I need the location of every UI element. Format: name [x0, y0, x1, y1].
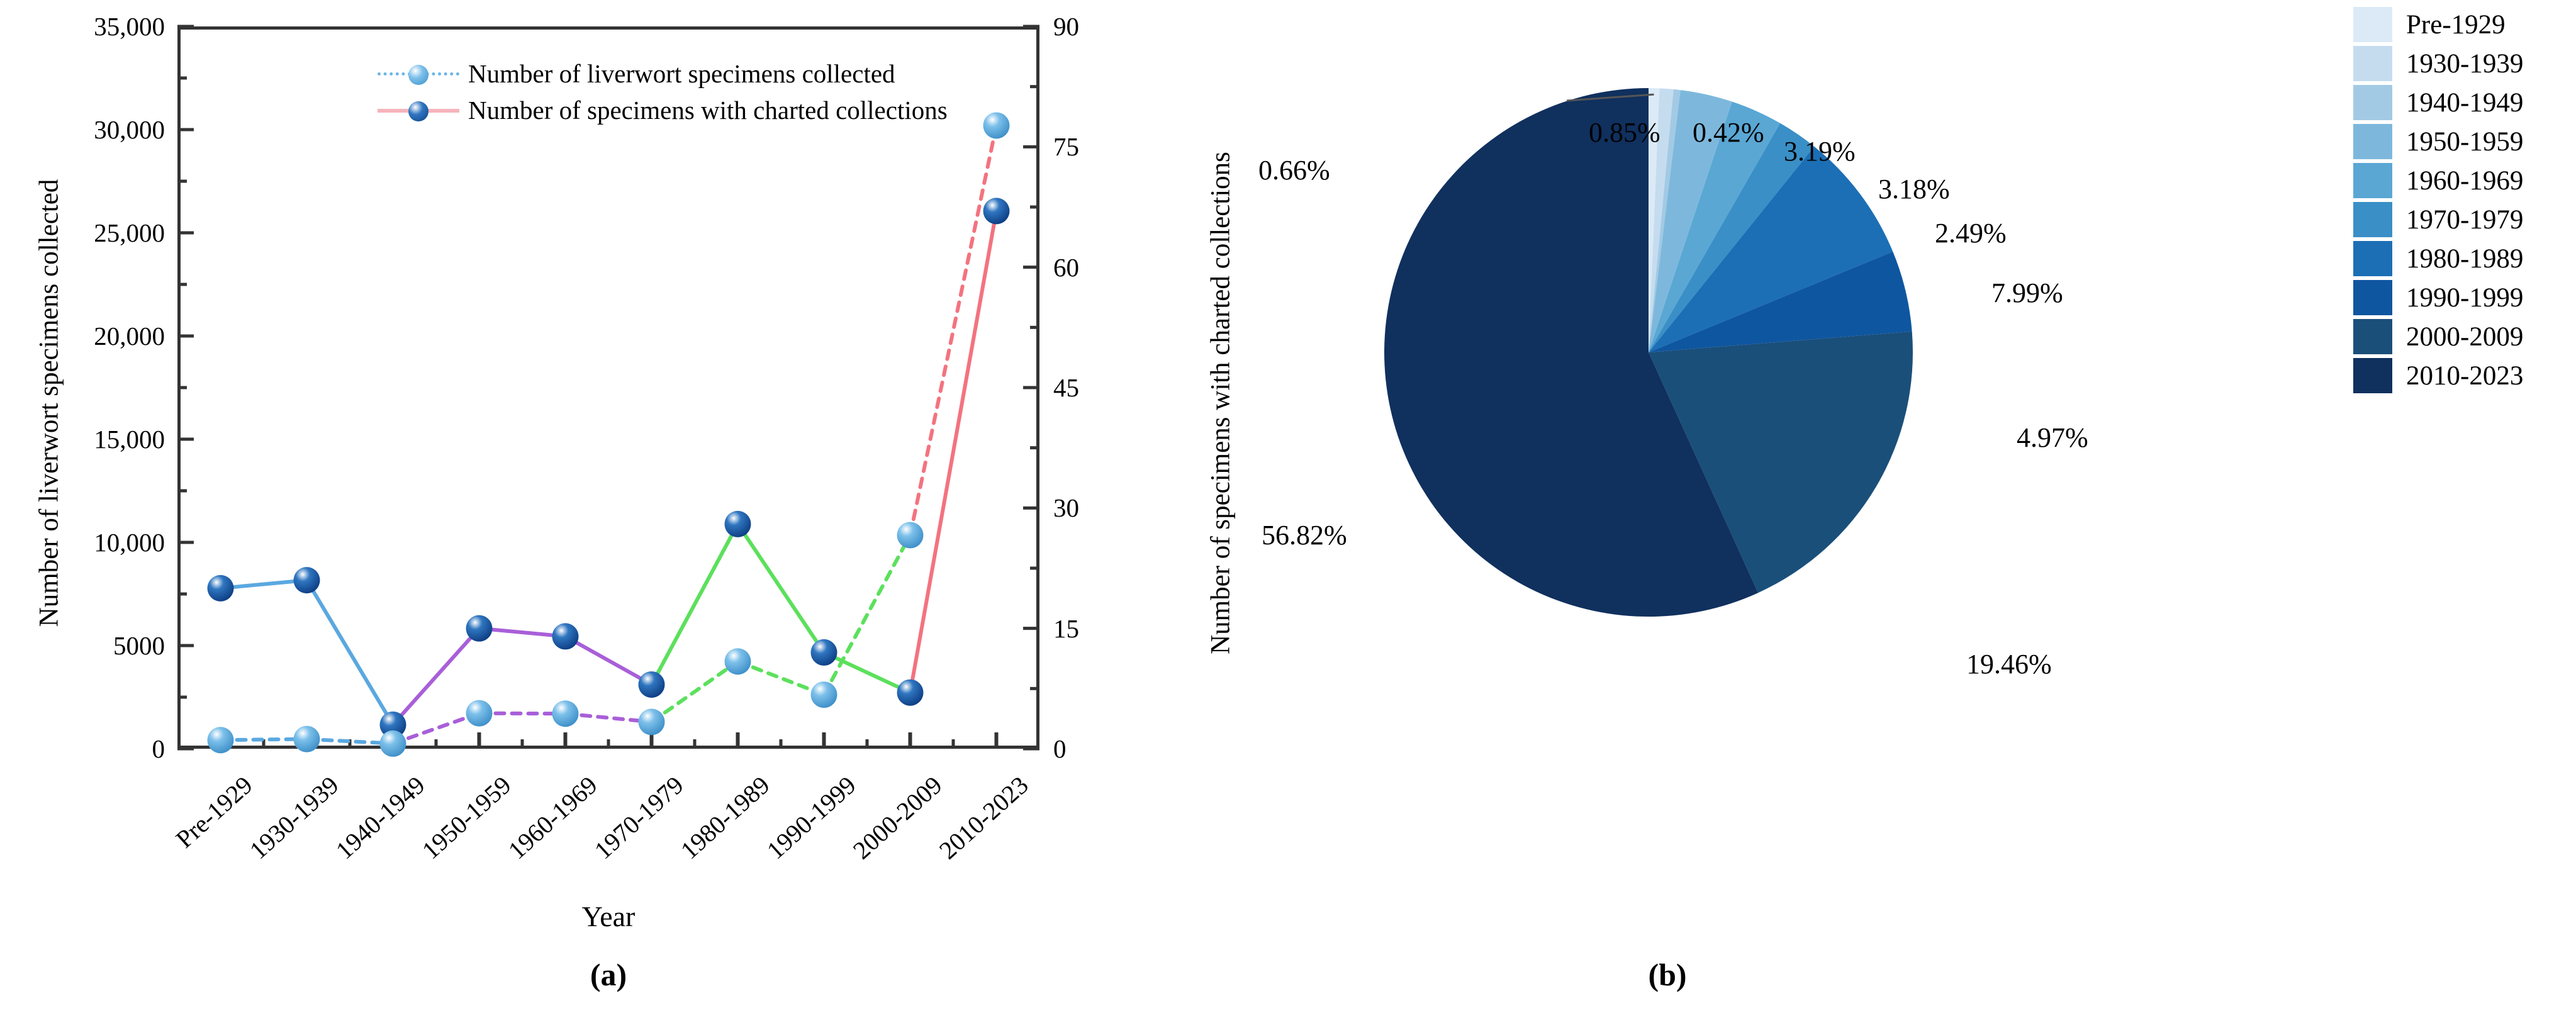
pie-percentage-label: 3.19%: [1784, 135, 1856, 167]
y-axis-right-tick-label: 60: [1053, 252, 1079, 283]
legend-color-swatch: [2353, 85, 2392, 120]
panel-a-caption: (a): [177, 956, 1039, 993]
legend-item: 1950-1959: [2353, 122, 2523, 161]
pie-percentage-label: 0.85%: [1589, 116, 1660, 148]
legend-color-swatch: [2353, 358, 2392, 393]
pie-percentage-label: 2.49%: [1935, 217, 2007, 249]
pie-percentage-label: 56.82%: [1262, 519, 1347, 551]
y-axis-left-tick-label: 20,000: [94, 321, 165, 351]
legend-label: 1940-1949: [2392, 87, 2523, 118]
legend-label-charted: Number of specimens with charted collect…: [459, 95, 948, 125]
legend-color-swatch: [2353, 241, 2392, 276]
legend-color-swatch: [2353, 202, 2392, 237]
line-chart-legend: Number of liverwort specimens collected …: [378, 55, 948, 128]
legend-label: 1950-1959: [2392, 126, 2523, 157]
y-axis-right-tick-label: 30: [1053, 493, 1079, 523]
y-axis-left-tick-label: 30,000: [94, 115, 165, 145]
legend-label: 2010-2023: [2392, 361, 2523, 391]
y-axis-left-tick-label: 5000: [113, 630, 165, 661]
pie-percentage-label: 7.99%: [1991, 277, 2063, 309]
legend-label: 1990-1999: [2392, 283, 2523, 313]
legend-label: 2000-2009: [2392, 322, 2523, 352]
legend-label: Pre-1929: [2392, 9, 2506, 40]
y-axis-left-tick-label: 25,000: [94, 218, 165, 248]
legend-color-swatch: [2353, 319, 2392, 354]
legend-item: 1960-1969: [2353, 161, 2523, 200]
legend-item: 1990-1999: [2353, 278, 2523, 317]
legend-color-swatch: [2353, 163, 2392, 198]
legend-marker-dotted-icon: [378, 63, 459, 84]
y-axis-right-tick-label: 75: [1053, 132, 1079, 162]
legend-item: 1970-1979: [2353, 200, 2523, 239]
y-axis-right-tick-label: 0: [1053, 734, 1067, 764]
pie-percentage-label: 3.18%: [1878, 173, 1950, 205]
y-axis-left-title: Number of liverwort specimens collected: [34, 120, 65, 686]
legend-color-swatch: [2353, 46, 2392, 81]
legend-label: 1970-1979: [2392, 204, 2523, 235]
pie-percentage-label: 0.66%: [1258, 154, 1330, 186]
pie-percentage-label: 4.97%: [2017, 422, 2088, 454]
y-axis-left-tick-label: 0: [152, 734, 165, 764]
x-axis-title: Year: [177, 900, 1039, 933]
legend-color-swatch: [2353, 124, 2392, 159]
legend-item: 1930-1939: [2353, 44, 2523, 83]
panel-b-caption: (b): [1196, 956, 2139, 993]
pie-percentage-label: 0.42%: [1693, 116, 1764, 148]
y-axis-right-tick-label: 90: [1053, 11, 1079, 42]
legend-item: Pre-1929: [2353, 5, 2523, 44]
legend-item: 1940-1949: [2353, 83, 2523, 122]
legend-label-liverwort: Number of liverwort specimens collected: [459, 59, 895, 89]
y-axis-left-tick-label: 10,000: [94, 527, 165, 557]
y-axis-right-tick-label: 45: [1053, 372, 1079, 403]
pie-chart-legend: Pre-19291930-19391940-19491950-19591960-…: [2353, 5, 2523, 395]
legend-label: 1980-1989: [2392, 244, 2523, 274]
y-axis-left-tick-label: 35,000: [94, 11, 165, 42]
line-chart-svg: [0, 0, 1196, 1030]
legend-color-swatch: [2353, 280, 2392, 315]
legend-color-swatch: [2353, 7, 2392, 42]
y-axis-right-tick-label: 15: [1053, 613, 1079, 644]
panel-a-line-chart: Number of liverwort specimens collected …: [0, 0, 1196, 1030]
legend-label: 1960-1969: [2392, 165, 2523, 196]
legend-item: 1980-1989: [2353, 239, 2523, 278]
legend-label: 1930-1939: [2392, 48, 2523, 79]
figure-root: Number of liverwort specimens collected …: [0, 0, 2576, 1030]
legend-item-liverwort: Number of liverwort specimens collected: [378, 55, 948, 92]
legend-marker-solid-icon: [378, 99, 459, 121]
y-axis-left-tick-label: 15,000: [94, 424, 165, 454]
legend-item: 2000-2009: [2353, 317, 2523, 356]
panel-b-pie-chart: (b) Pre-19291930-19391940-19491950-19591…: [1196, 0, 2576, 1030]
pie-percentage-label: 19.46%: [1966, 648, 2052, 680]
legend-item: 2010-2023: [2353, 356, 2523, 395]
legend-item-charted: Number of specimens with charted collect…: [378, 92, 948, 128]
